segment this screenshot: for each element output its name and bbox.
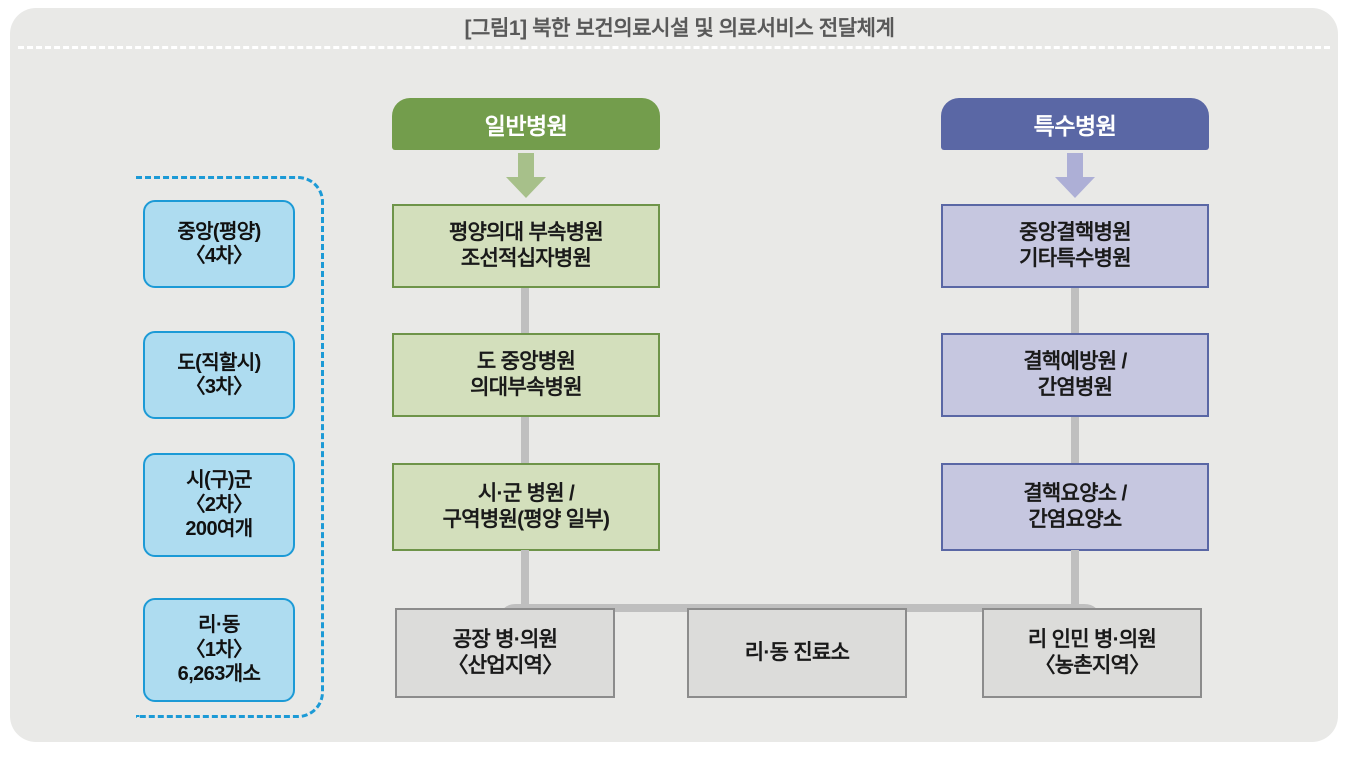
node-factory-clinic-line1: 공장 병·의원 xyxy=(453,627,558,653)
tier-city-line2: 〈2차〉 xyxy=(185,493,252,517)
tier-central: 중앙(평양) 〈4차〉 xyxy=(143,200,295,288)
tier-province-line1: 도(직할시) xyxy=(177,351,260,375)
node-pyongyang-line1: 평양의대 부속병원 xyxy=(449,220,603,246)
node-tb-sanatorium: 결핵요양소 / 간염요양소 xyxy=(941,463,1209,551)
connector-purple-1 xyxy=(1071,288,1079,333)
node-city-county-line1: 시·군 병원 / xyxy=(478,481,574,507)
tier-central-line2: 〈4차〉 xyxy=(185,244,252,268)
title-divider xyxy=(18,46,1330,49)
node-tb-sanatorium-line1: 결핵요양소 / xyxy=(1023,481,1126,507)
arrow-down-purple-icon xyxy=(1053,153,1097,199)
figure-root: [그림1] 북한 보건의료시설 및 의료서비스 전달체계 중앙(평양) 〈4차〉… xyxy=(0,0,1359,764)
node-city-county-hospital: 시·군 병원 / 구역병원(평양 일부) xyxy=(392,463,660,551)
node-ri-dong-clinic: 리·동 진료소 xyxy=(687,608,907,698)
node-provincial-line1: 도 중앙병원 xyxy=(477,349,575,375)
node-provincial-central-hospital: 도 중앙병원 의대부속병원 xyxy=(392,333,660,417)
node-pyongyang-medical-college-hospital: 평양의대 부속병원 조선적십자병원 xyxy=(392,204,660,288)
column-header-general-hospital-label: 일반병원 xyxy=(485,107,568,141)
column-header-special-hospital: 특수병원 xyxy=(941,98,1209,150)
node-tb-prevention-center: 결핵예방원 / 간염병원 xyxy=(941,333,1209,417)
arrow-down-green-icon xyxy=(504,153,548,199)
tier-province: 도(직할시) 〈3차〉 xyxy=(143,331,295,419)
node-tb-sanatorium-line2: 간염요양소 xyxy=(1028,507,1121,533)
connector-green-2 xyxy=(521,417,529,463)
node-central-tb-line1: 중앙결핵병원 xyxy=(1019,220,1131,246)
node-ri-dong-clinic-line1: 리·동 진료소 xyxy=(745,640,850,666)
node-city-county-line2: 구역병원(평양 일부) xyxy=(443,507,610,533)
node-pyongyang-line2: 조선적십자병원 xyxy=(461,246,591,272)
tier-city-line3: 200여개 xyxy=(185,517,252,541)
tier-ri-dong-line2: 〈1차〉 xyxy=(185,638,252,662)
tier-city: 시(구)군 〈2차〉 200여개 xyxy=(143,453,295,557)
column-header-general-hospital: 일반병원 xyxy=(392,98,660,150)
node-ri-peoples-clinic-line1: 리 인민 병·의원 xyxy=(1028,627,1156,653)
node-ri-peoples-clinic: 리 인민 병·의원 〈농촌지역〉 xyxy=(982,608,1202,698)
tier-central-line1: 중앙(평양) xyxy=(177,220,260,244)
connector-green-1 xyxy=(521,288,529,333)
node-factory-clinic-line2: 〈산업지역〉 xyxy=(447,653,562,679)
figure-title: [그림1] 북한 보건의료시설 및 의료서비스 전달체계 xyxy=(0,12,1359,42)
node-provincial-line2: 의대부속병원 xyxy=(470,375,582,401)
tier-ri-dong-line3: 6,263개소 xyxy=(178,662,261,686)
node-central-tb-line2: 기타특수병원 xyxy=(1019,246,1131,272)
tier-province-line2: 〈3차〉 xyxy=(185,375,252,399)
column-header-special-hospital-label: 특수병원 xyxy=(1034,107,1117,141)
node-factory-clinic: 공장 병·의원 〈산업지역〉 xyxy=(395,608,615,698)
connector-purple-2 xyxy=(1071,417,1079,463)
node-tb-prevention-line1: 결핵예방원 / xyxy=(1023,349,1126,375)
node-ri-peoples-clinic-line2: 〈농촌지역〉 xyxy=(1034,653,1149,679)
tier-city-line1: 시(구)군 xyxy=(186,468,252,492)
node-tb-prevention-line2: 간염병원 xyxy=(1038,375,1112,401)
node-central-tuberculosis-hospital: 중앙결핵병원 기타특수병원 xyxy=(941,204,1209,288)
